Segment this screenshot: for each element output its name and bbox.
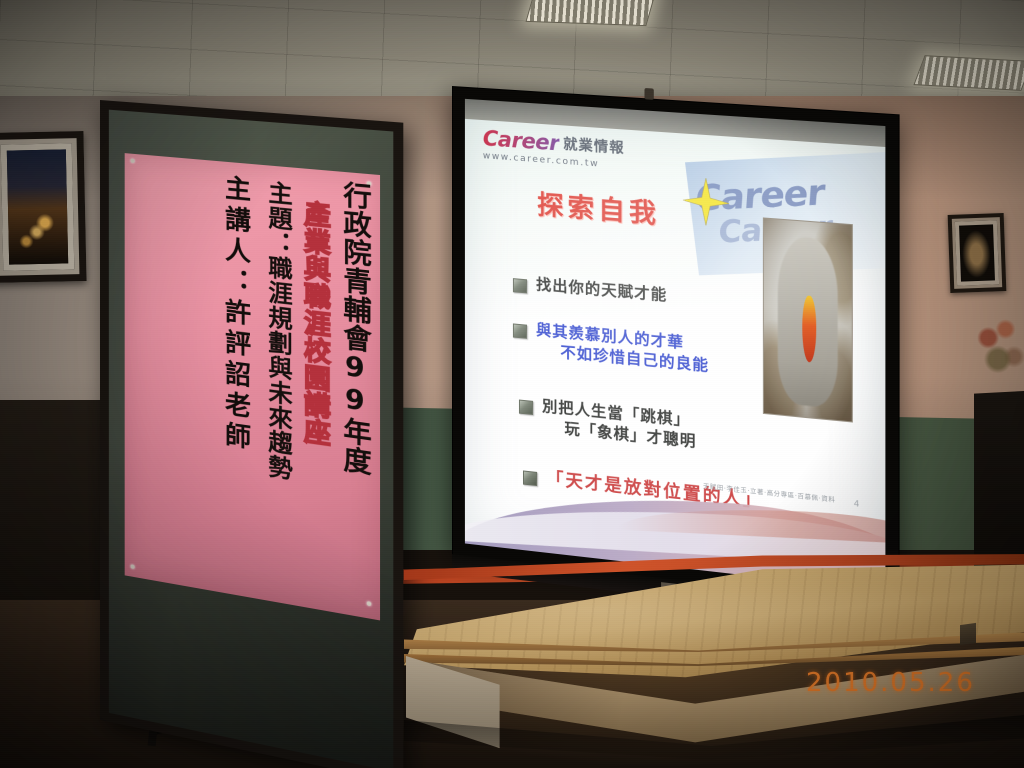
career-brand-cn-text: 就業情報: [563, 134, 624, 159]
slide-bullet-1: 找出你的天賦才能: [513, 273, 667, 306]
stage-vent: [960, 623, 976, 645]
ceiling-light-fixture-1: [525, 0, 656, 26]
slide-page-number: 4: [854, 499, 860, 509]
picture-artwork-dark: [960, 225, 994, 280]
bullet-1-text: 找出你的天賦才能: [536, 275, 667, 306]
bullet-3-group: 別把人生當「跳棋」 玩「象棋」才聰明: [542, 397, 696, 453]
slide-title: 探索自我: [537, 184, 660, 231]
career-logo: Career就業情報 www.career.com.tw: [483, 126, 625, 171]
bullet-square-icon: [519, 400, 533, 415]
ceiling-light-fixture-2: [913, 55, 1024, 91]
poster-speaker-line: 主講人：許評詔老師: [223, 174, 250, 455]
pink-poster-sheet: 行政院青輔會99年度 產業與職涯校園講座 主題：職涯規劃與未來趨勢 主講人：許評…: [125, 153, 380, 620]
bullet-square-icon: [513, 323, 527, 338]
picture-frame-left: [0, 131, 87, 283]
lecture-hall-photo: 行政院青輔會99年度 產業與職涯校園講座 主題：職涯規劃與未來趨勢 主講人：許評…: [0, 0, 1024, 768]
poster-organization-line: 行政院青輔會99年度: [340, 180, 369, 477]
picture-artwork-night-landscape: [7, 149, 68, 264]
slide-squirrel-photo: [763, 217, 853, 422]
poster-topic-line: 主題：職涯規劃與未來趨勢: [264, 180, 289, 482]
poster-board: 行政院青輔會99年度 產業與職涯校園講座 主題：職涯規劃與未來趨勢 主講人：許評…: [100, 100, 403, 768]
bullet-square-icon: [513, 278, 527, 293]
camera-timestamp: 2010.05.26: [806, 668, 975, 698]
poster-series-line: 產業與職涯校園講座: [302, 200, 329, 448]
screen-mount-hook: [644, 88, 653, 100]
stage-platform: [404, 514, 1024, 734]
bullet-2-subtext: 不如珍惜自己的良能: [560, 343, 709, 377]
bullet-2-group: 與其羨慕別人的才華 不如珍惜自己的良能: [536, 320, 709, 376]
slide-bullet-2: 與其羨慕別人的才華 不如珍惜自己的良能: [513, 318, 709, 376]
sparkle-star-icon: [683, 177, 729, 228]
slide-bullet-3: 別把人生當「跳棋」 玩「象棋」才聰明: [519, 394, 697, 452]
picture-frame-right: [948, 213, 1007, 293]
bullet-square-icon: [523, 470, 537, 486]
poster-text-block: 行政院青輔會99年度 產業與職涯校園講座 主題：職涯規劃與未來趨勢 主講人：許評…: [125, 153, 380, 620]
flower-arrangement: [972, 312, 1024, 398]
